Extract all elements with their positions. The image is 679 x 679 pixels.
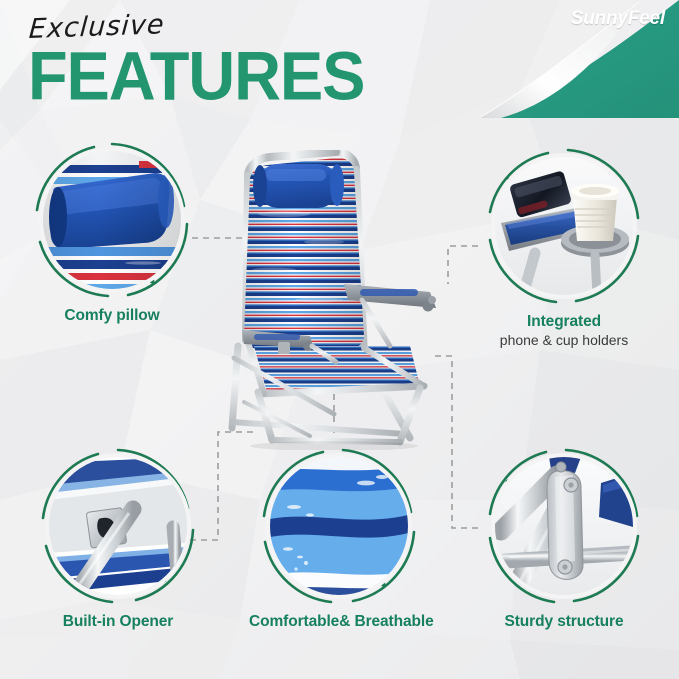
feature-comfortable-breathable[interactable]: Comfortable& Breathable — [249, 446, 429, 631]
brand-logo-part2: Feel — [628, 8, 665, 29]
bottle-opener-photo — [49, 457, 187, 595]
product-image — [214, 150, 466, 450]
feature-comfy-pillow[interactable]: Comfy pillow — [22, 140, 202, 325]
feature-sublabel: phone & cup holders — [474, 332, 654, 348]
feature-caption: Built-in Opener — [28, 613, 208, 631]
brand-corner-banner: SunnyFeel — [479, 0, 679, 118]
page-title: Exclusive FEATURES — [28, 16, 328, 98]
feature-label: Sturdy structure — [474, 613, 654, 631]
striped-fabric-photo — [270, 457, 408, 595]
feature-label: Comfy pillow — [22, 307, 202, 325]
feature-sturdy-structure[interactable]: Sturdy structure — [474, 446, 654, 631]
phone-cup-holder-photo — [495, 157, 633, 295]
feature-label: Integrated — [474, 313, 654, 331]
pillow-photo — [43, 151, 181, 289]
feature-caption: Sturdy structure — [474, 613, 654, 631]
feature-label: Built-in Opener — [28, 613, 208, 631]
feature-built-in-opener[interactable]: Built-in Opener — [28, 446, 208, 631]
feature-integrated-holders[interactable]: Integrated phone & cup holders — [474, 146, 654, 348]
pillow-part — [253, 164, 344, 208]
brand-logo-part1: Sunny — [571, 8, 628, 29]
title-main: FEATURES — [28, 45, 364, 108]
feature-caption: Comfy pillow — [22, 307, 202, 325]
feature-caption: Comfortable& Breathable — [249, 613, 429, 631]
feature-caption: Integrated phone & cup holders — [474, 313, 654, 348]
infographic-page: SunnyFeel Exclusive FEATURES — [0, 0, 679, 679]
feature-label: Comfortable& Breathable — [249, 613, 429, 631]
brand-logo: SunnyFeel — [571, 8, 665, 30]
frame-hinge-photo — [495, 457, 633, 595]
